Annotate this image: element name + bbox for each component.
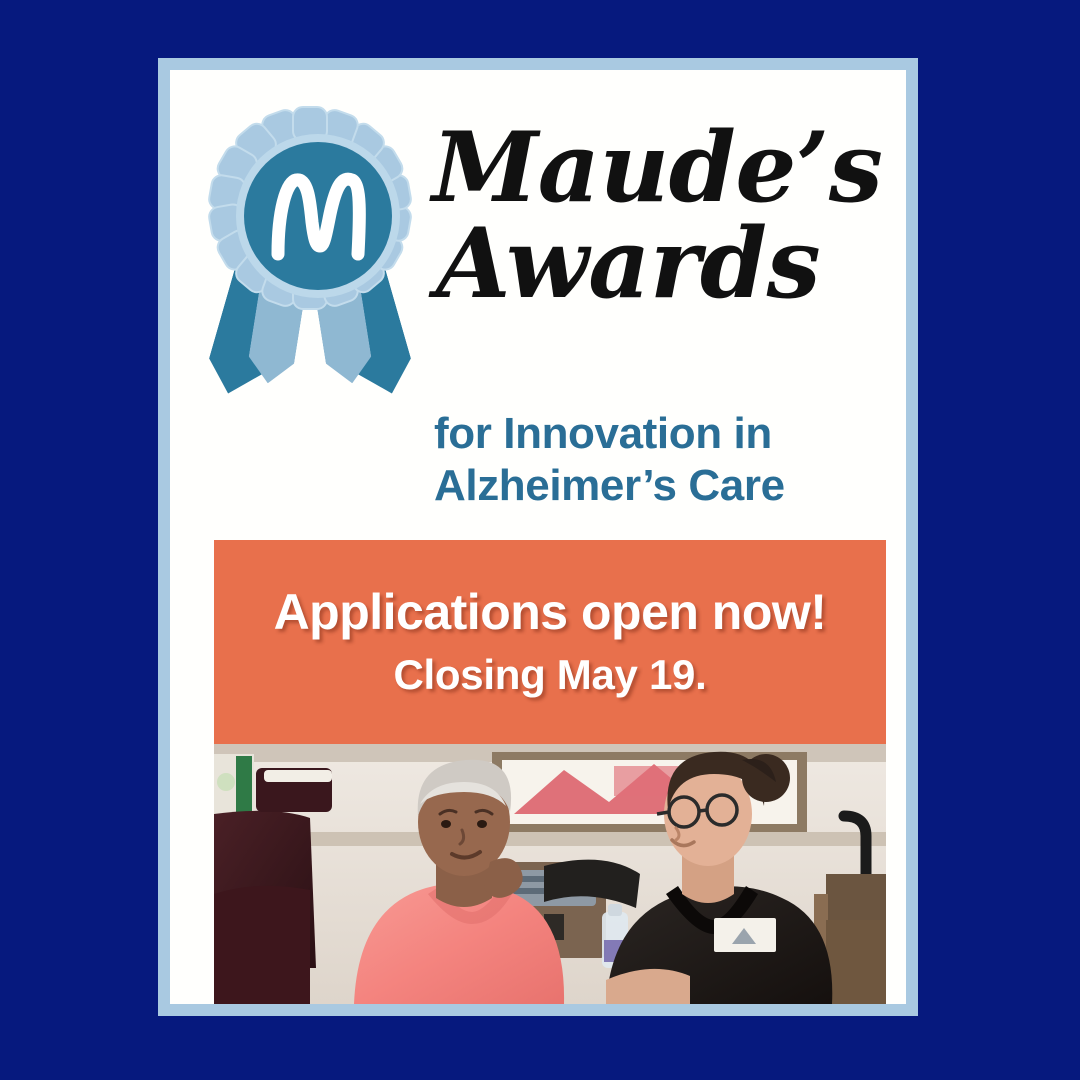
- subtitle-line-2: Alzheimer’s Care: [434, 460, 904, 512]
- poster-header: Maude’s Awards for Innovation in Alzheim…: [170, 70, 906, 552]
- banner-headline: Applications open now!: [274, 585, 827, 640]
- care-photo: [214, 744, 886, 1004]
- maudes-awards-rosette-icon: [200, 98, 420, 418]
- subtitle: for Innovation in Alzheimer’s Care: [434, 408, 904, 512]
- wordmark-line-2: Awards: [436, 218, 882, 310]
- poster-frame: Maude’s Awards for Innovation in Alzheim…: [158, 58, 918, 1016]
- wordmark-line-1: Maude’s: [432, 122, 882, 214]
- rosette-disc: [244, 142, 392, 290]
- poster-card: Maude’s Awards for Innovation in Alzheim…: [170, 70, 906, 1004]
- poster-canvas: Maude’s Awards for Innovation in Alzheim…: [0, 0, 1080, 1080]
- rosette-petal: [292, 106, 328, 142]
- subtitle-line-1: for Innovation in: [434, 408, 904, 460]
- banner-deadline: Closing May 19.: [394, 652, 707, 698]
- rosette-scallop-ring: [208, 106, 412, 310]
- wordmark: Maude’s Awards: [432, 122, 882, 310]
- call-to-action-banner: Applications open now! Closing May 19.: [214, 540, 886, 744]
